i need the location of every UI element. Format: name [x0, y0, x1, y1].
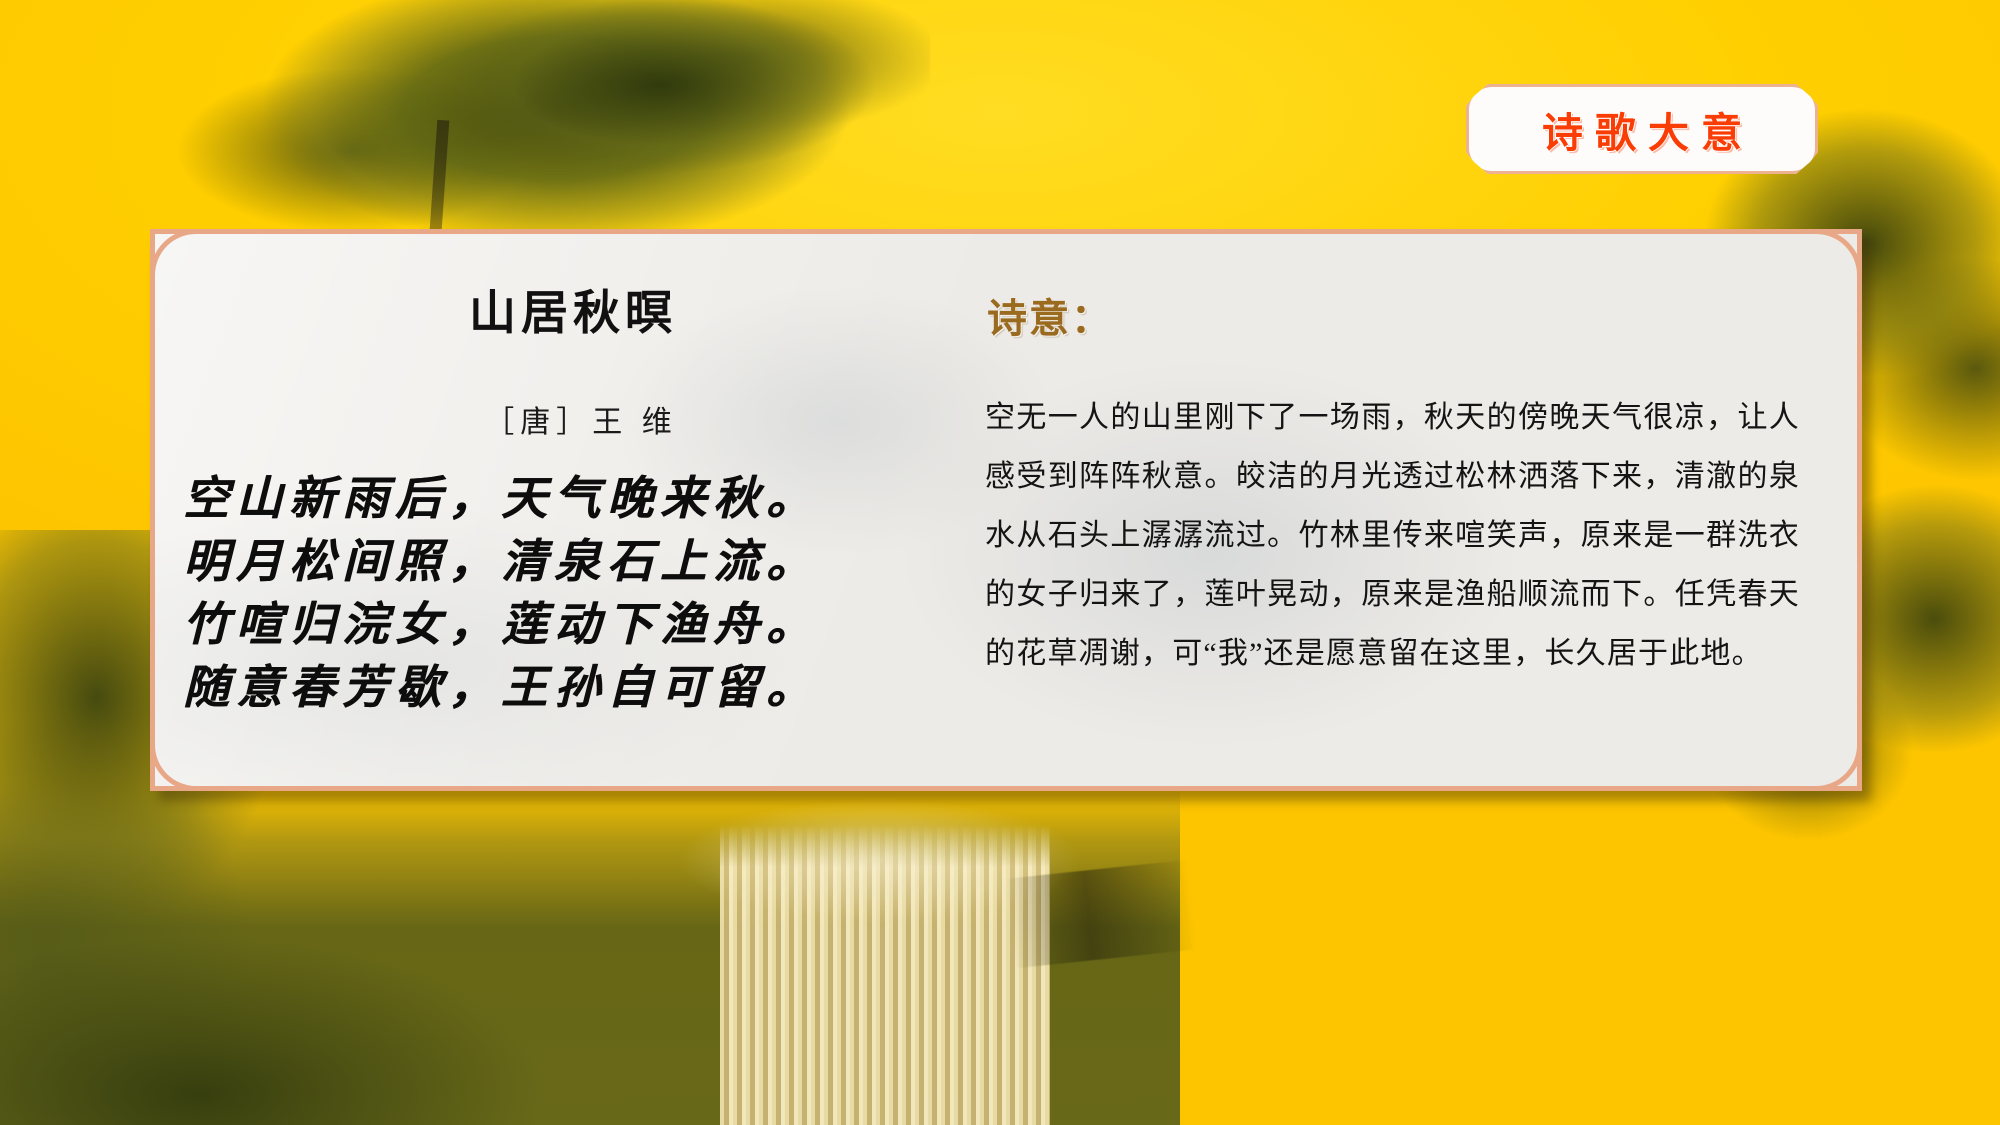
section-title-text: 诗歌大意 — [1530, 99, 1754, 159]
meaning-panel: 诗意： 空无一人的山里刚下了一场雨，秋天的傍晚天气很凉，让人感受到阵阵秋意。皎洁… — [975, 234, 1857, 786]
card-body: 山居秋暝 ［唐］王 维 空山新雨后，天气晚来秋。 明月松间照，清泉石上流。 竹喧… — [155, 234, 1857, 786]
meaning-body-text: 空无一人的山里刚下了一场雨，秋天的傍晚天气很凉，让人感受到阵阵秋意。皎洁的月光透… — [985, 388, 1800, 683]
poem-line: 竹喧归浣女，莲动下渔舟。 — [179, 593, 949, 656]
poem-line: 明月松间照，清泉石上流。 — [179, 530, 949, 593]
content-card: 山居秋暝 ［唐］王 维 空山新雨后，天气晚来秋。 明月松间照，清泉石上流。 竹喧… — [150, 229, 1862, 791]
poem-lines: 空山新雨后，天气晚来秋。 明月松间照，清泉石上流。 竹喧归浣女，莲动下渔舟。 随… — [179, 467, 949, 719]
poem-panel: 山居秋暝 ［唐］王 维 空山新雨后，天气晚来秋。 明月松间照，清泉石上流。 竹喧… — [155, 234, 975, 786]
pine-canopy-secondary — [380, 0, 940, 210]
poem-author: ［唐］王 维 — [213, 397, 949, 441]
badge-inner: 诗歌大意 — [1469, 87, 1815, 171]
meaning-heading: 诗意： — [987, 286, 1803, 344]
poem-line: 空山新雨后，天气晚来秋。 — [179, 467, 949, 530]
slide-canvas: 诗歌大意 山居秋暝 ［唐］王 维 空山新雨后，天气晚来秋。 明月松间照，清泉石上… — [0, 0, 2000, 1125]
section-title-badge: 诗歌大意 — [1466, 84, 1818, 174]
poem-line: 随意春芳歇，王孙自可留。 — [179, 656, 949, 719]
poem-title: 山居秋暝 — [197, 268, 949, 343]
